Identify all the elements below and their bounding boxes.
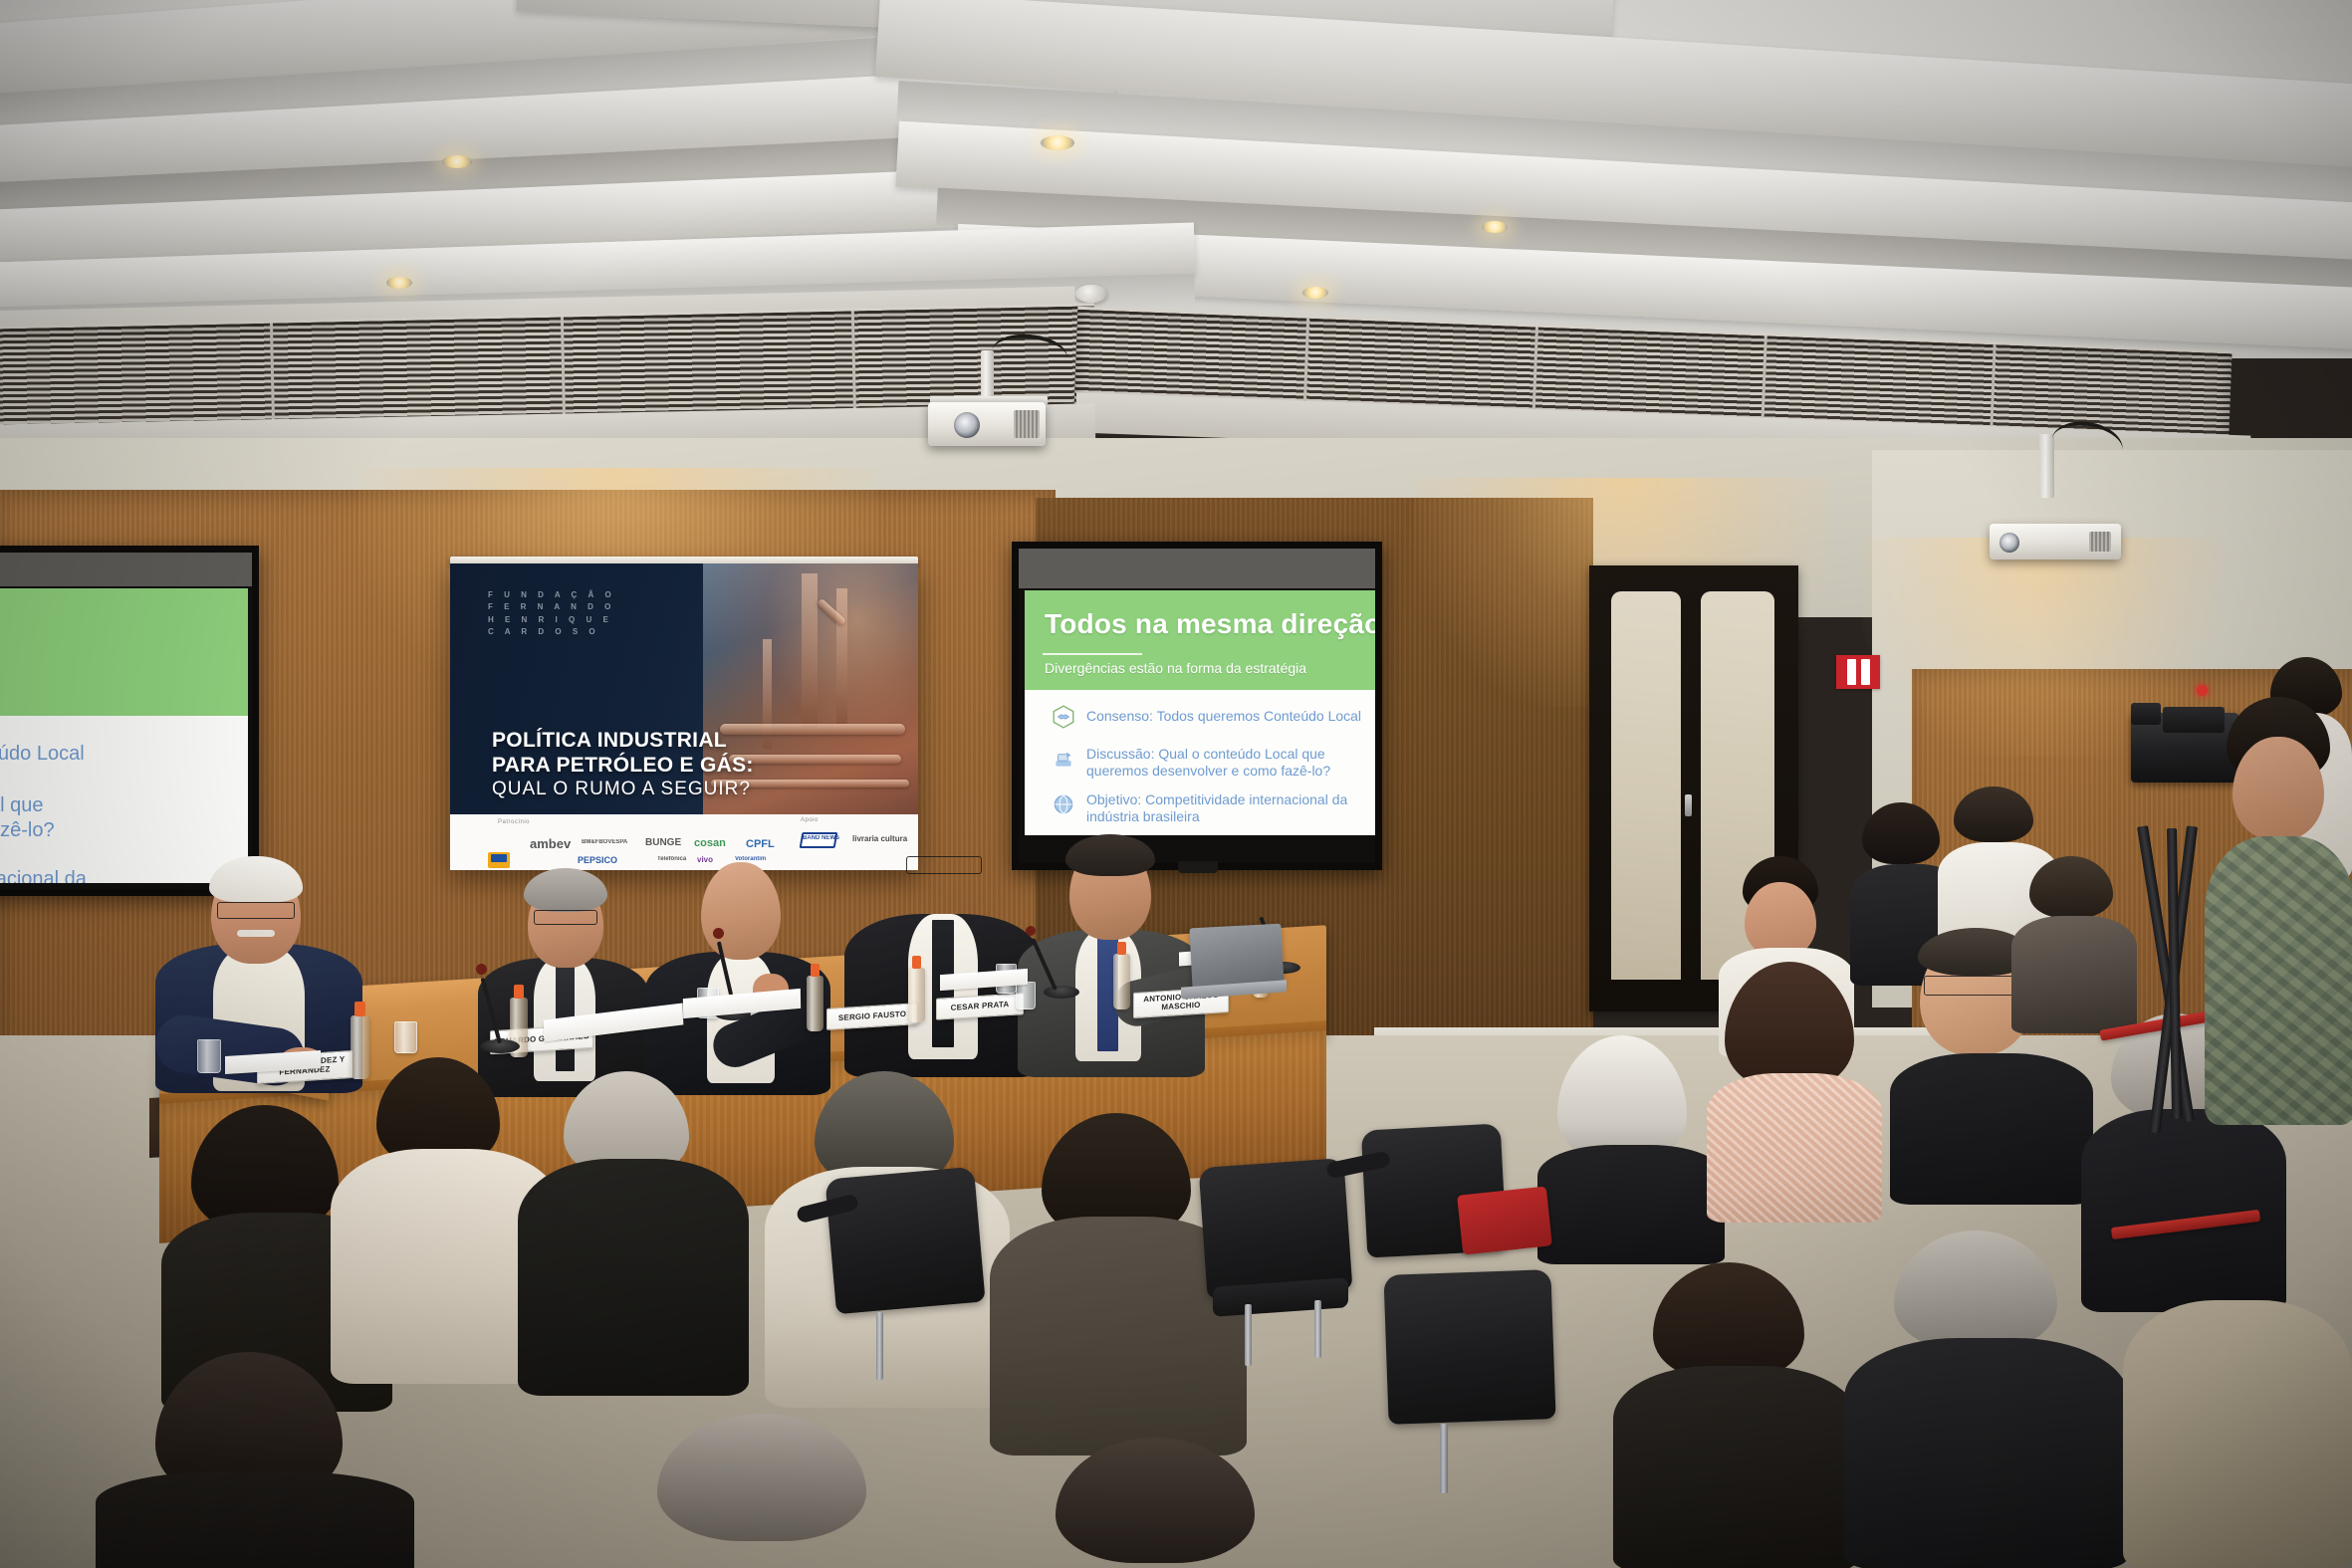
audience-hair (1653, 1262, 1804, 1380)
water-bottle[interactable] (1113, 954, 1130, 1009)
microphone-head (1026, 926, 1036, 936)
microphone-head (476, 964, 487, 975)
audience-trousers (2123, 1300, 2352, 1568)
conference-room-photo: ão atégia s Conteúdo Local do Local que … (0, 0, 2352, 1568)
handbag (1457, 1186, 1552, 1254)
audience-jacket (2011, 916, 2137, 1033)
drinking-glass[interactable] (394, 1021, 417, 1053)
slide-title: Todos na mesma direção (1045, 608, 1375, 640)
panelist-hair (524, 868, 607, 912)
slide-main: Todos na mesma direção Divergências estã… (1025, 590, 1375, 835)
banner-title: POLÍTICA INDUSTRIAL PARA PETRÓLEO E GÁS:… (492, 729, 754, 800)
slide-bullet-left-1: s Conteúdo Local (0, 742, 85, 766)
microphone-base (1044, 986, 1079, 999)
ceiling-downlight (1482, 221, 1508, 233)
chair-leg (1440, 1424, 1448, 1493)
camera-operator (2209, 697, 2352, 1125)
audience-hair (1954, 786, 2033, 842)
slide-bullet-left-2a: do Local que (0, 793, 44, 817)
drinking-glass[interactable] (1016, 982, 1036, 1009)
slide-divider (1043, 653, 1142, 655)
audience-member-front (1000, 1438, 1328, 1568)
panelist-hair (1065, 834, 1155, 876)
ceiling-downlight (1041, 135, 1074, 150)
banner-title-line-3: QUAL O RUMO A SEGUIR? (492, 779, 754, 800)
support-logo-bandnews-text: BAND NEWS (803, 835, 839, 841)
foundation-logo-line: F U N D A Ç Ã O (488, 589, 615, 601)
door-handle[interactable] (1685, 794, 1692, 816)
audience-hair (1862, 802, 1940, 864)
water-bottle[interactable] (908, 968, 925, 1022)
panelist-hair-bald (699, 858, 783, 892)
chair-leg (1314, 1300, 1321, 1358)
projector-icon (1990, 524, 2121, 560)
audience-chair[interactable] (1383, 1269, 1555, 1425)
eyeglasses (1924, 976, 2019, 996)
slide-body: Consenso: Todos queremos Conteúdo Local … (1025, 690, 1375, 835)
panelist-eduardo-guimaraes (476, 854, 665, 1089)
door-panel-left (1611, 591, 1681, 980)
audience-member-right (1844, 1231, 2133, 1568)
slide-bullet-3: Objetivo: Competitividade internacional … (1051, 791, 1375, 825)
audience-member-right (1613, 1262, 1862, 1568)
head-bandage (209, 856, 303, 902)
camera-record-light (2197, 685, 2208, 696)
projector-icon (928, 402, 1046, 446)
banner-title-line-2: PARA PETRÓLEO E GÁS: (492, 754, 754, 779)
emergency-sign (1836, 655, 1880, 689)
eyeglasses (534, 910, 597, 925)
screen-top-band (1019, 549, 1375, 588)
slide-bullet-1-text: Consenso: Todos queremos Conteúdo Local (1086, 708, 1361, 725)
sponsor-logo-ambev: ambev (530, 836, 571, 851)
placard-line-2: MASCHIO (1161, 1001, 1200, 1011)
drinking-glass[interactable] (197, 1039, 221, 1073)
water-bottle[interactable] (807, 976, 823, 1031)
banner-title-line-1: POLÍTICA INDUSTRIAL (492, 729, 754, 754)
chair-leg (1245, 1304, 1252, 1366)
slide-header-left: ão atégia (0, 588, 248, 716)
audience-hair (1056, 1438, 1255, 1563)
microphone-head (713, 928, 724, 939)
audience-member-right (2123, 1280, 2352, 1568)
audience-member-right (1709, 962, 1888, 1211)
lectern-icon (1051, 746, 1076, 777)
screen-top-band (0, 553, 252, 586)
audience-hair (1725, 962, 1854, 1089)
slide-bullet-1: Consenso: Todos queremos Conteúdo Local (1051, 704, 1375, 735)
projector-vent (2089, 532, 2111, 552)
projector-lens (1999, 533, 2019, 553)
operator-patterned-shirt (2205, 836, 2352, 1125)
audience-hair-grey (1894, 1231, 2057, 1350)
eyeglasses (906, 856, 982, 874)
audience-lace-top (1707, 1073, 1882, 1223)
ceiling-downlight (1302, 287, 1328, 299)
projector-vent (1014, 410, 1040, 438)
slide-header: Todos na mesma direção Divergências estã… (1025, 590, 1375, 690)
panelist-hair (896, 806, 992, 854)
camera-viewfinder (2131, 703, 2161, 725)
slide-bullet-left-3: e internacional da (0, 867, 87, 883)
sponsor-logo-bmfbovespa: BM&FBOVESPA (582, 839, 627, 845)
slide-subtitle: Divergências estão na forma da estratégi… (1045, 660, 1306, 676)
laptop-icon[interactable] (1189, 924, 1284, 991)
audience-chair[interactable] (824, 1167, 985, 1315)
smoke-detector-icon (1075, 285, 1107, 303)
sponsor-label: Patrocínio (498, 819, 530, 825)
ceiling-downlight (442, 155, 472, 168)
ceiling-downlight (386, 277, 412, 289)
slide-bullet-2: Discussão: Qual o conteúdo Local que que… (1051, 746, 1375, 780)
chair-leg (876, 1312, 883, 1380)
audience-member-front (518, 1071, 767, 1400)
audience-hair-grey (657, 1414, 866, 1541)
slide-bullet-2-text: Discussão: Qual o conteúdo Local que que… (1086, 746, 1365, 780)
moustache (237, 930, 275, 937)
audience-jacket (1613, 1366, 1858, 1568)
audience-member-front (588, 1414, 946, 1568)
audience-hair (2029, 856, 2113, 918)
audience-jacket (1890, 1053, 2093, 1205)
handshake-icon (1051, 704, 1076, 735)
globe-icon (1051, 791, 1076, 822)
support-label: Apoio (801, 817, 819, 823)
foundation-logo-line: C A R D O S O (488, 626, 615, 638)
audience-member-front (96, 1352, 414, 1568)
audience-jacket (96, 1471, 414, 1568)
audience-jacket (1844, 1338, 2129, 1568)
operator-head (2233, 737, 2324, 840)
projection-screen-main: Todos na mesma direção Divergências estã… (1012, 542, 1382, 870)
audience-hair-white (1557, 1035, 1687, 1163)
foundation-logo-line: H E N R I Q U E (488, 614, 615, 626)
audience-head (1745, 882, 1816, 958)
eyeglasses (217, 902, 295, 919)
audience-member-right (2011, 856, 2141, 1035)
audience-jacket (1537, 1145, 1725, 1264)
foundation-logo: F U N D A Ç Ã O F E R N A N D O H E N R … (488, 589, 615, 639)
placard-line-1: SERGIO FAUSTO (838, 1008, 906, 1021)
audience-member-right (1543, 996, 1723, 1244)
slide-bullet-left-2b: como fazê-lo? (0, 818, 55, 842)
placard-line-1: CESAR PRATA (951, 1000, 1010, 1012)
foundation-logo-line: F E R N A N D O (488, 601, 615, 613)
slide-bullet-3-text: Objetivo: Competitividade internacional … (1086, 791, 1375, 825)
audience-suit (518, 1159, 749, 1396)
banner-artwork: F U N D A Ç Ã O F E R N A N D O H E N R … (450, 563, 918, 814)
projector-lens (954, 412, 980, 438)
